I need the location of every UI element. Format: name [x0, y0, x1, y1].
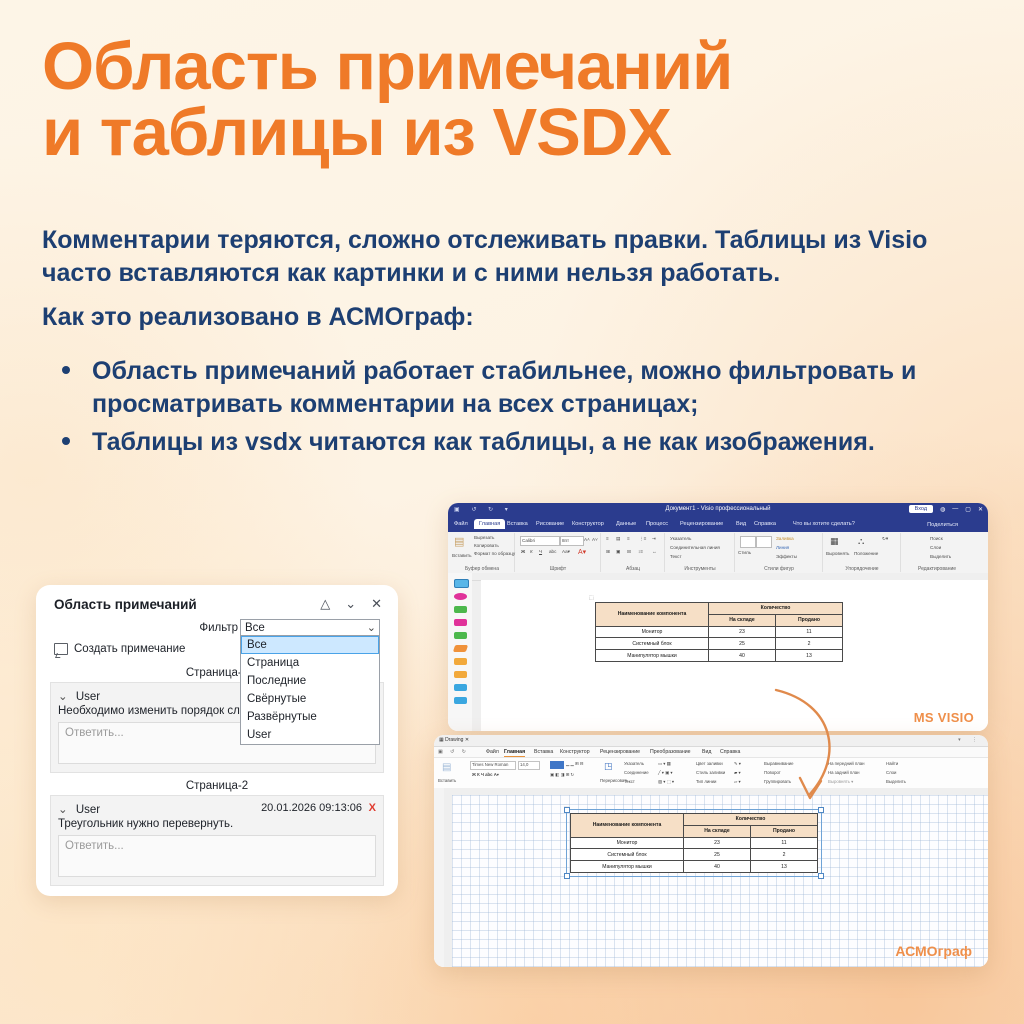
cell-sold: 2	[776, 638, 843, 650]
comment-text: Треугольник нужно перевернуть.	[58, 818, 376, 830]
connect-tool-button[interactable]: Соединение	[624, 770, 649, 775]
th-sold: Продано	[776, 614, 843, 626]
text-tool-button[interactable]: Текст	[670, 554, 682, 559]
close-icon[interactable]: ✕	[978, 506, 983, 513]
close-icon[interactable]: ✕	[371, 597, 382, 610]
intro-paragraph: Комментарии теряются, сложно отслеживать…	[42, 224, 972, 290]
cell-sold: 11	[776, 626, 843, 638]
select-button[interactable]: Выделить	[886, 779, 906, 784]
valign-bottom-icon[interactable]: ⊟	[627, 549, 631, 555]
comments-panel-title: Область примечаний	[54, 597, 197, 612]
font-name-value: Times New Roman	[472, 762, 508, 767]
shape-misc-icons-c[interactable]: ▨ ▾ ⬚ ▾	[658, 779, 674, 785]
paste-icon[interactable]: ▤	[442, 762, 451, 773]
ribbon-group-label: Инструменты	[666, 566, 734, 572]
maximize-icon[interactable]: ▢	[965, 506, 971, 513]
cell-sold: 13	[776, 650, 843, 662]
comment-author: User	[76, 691, 100, 703]
filter-option-user[interactable]: User	[241, 726, 379, 744]
acmograf-ribbon: ▤ Вставить Times New Roman 14,0 Ж К Ч ab…	[434, 758, 988, 791]
tab-insert[interactable]: Вставка	[507, 521, 528, 527]
th-quantity: Количество	[709, 603, 843, 615]
tab-file[interactable]: Файл	[454, 521, 468, 527]
intro-subhead: Как это реализовано в АСМОграф:	[42, 303, 972, 332]
document-tab-label: Drawing	[445, 737, 463, 743]
comments-window-controls: △ ⌄ ✕	[320, 597, 382, 610]
chevron-down-icon[interactable]: ⌄	[58, 691, 68, 703]
acmograf-component-table[interactable]: ⬚ Наименование компонента Количество На …	[570, 813, 818, 873]
pointer-tool-button[interactable]: Указатель	[670, 536, 691, 541]
table-row: Манипулятор мышки 40 13	[596, 650, 843, 662]
line-style-icon[interactable]: ▁ ▁ ⊞ ⊟	[566, 761, 583, 767]
bullet-dot-icon	[62, 437, 70, 445]
tab-help[interactable]: Справка	[720, 749, 740, 755]
list-item: Область примечаний работает стабильнее, …	[46, 355, 996, 421]
stencil-shape[interactable]	[454, 619, 467, 626]
selection-handle[interactable]	[818, 873, 824, 879]
cell-in-stock: 40	[709, 650, 776, 662]
bullet-dot-icon	[62, 366, 70, 374]
acmograf-workspace: ⬚ Наименование компонента Количество На …	[434, 788, 988, 967]
shrink-font-icon[interactable]: A˅	[592, 537, 598, 542]
tab-home[interactable]: Главная	[504, 749, 525, 757]
comments-panel: Область примечаний △ ⌄ ✕ Фильтр Все ⌄ Вс…	[50, 595, 384, 883]
tab-file[interactable]: Файл	[486, 749, 499, 755]
minimize-icon[interactable]: —	[952, 506, 958, 512]
feature-list: Область примечаний работает стабильнее, …	[46, 355, 996, 464]
filter-select[interactable]: Все ⌄	[240, 619, 380, 636]
select-button[interactable]: Выделить	[930, 554, 951, 559]
ribbon-group-shape-styles: Стиль Заливка Линия Эффекты Стили фигур	[736, 533, 823, 572]
th-component-name: Наименование компонента	[596, 603, 709, 627]
visio-title-bar: ▣ ↺ ↻ ▾ Документ1 - Visio профессиональн…	[448, 503, 988, 519]
tab-insert[interactable]: Вставка	[534, 749, 553, 755]
visio-ribbon-tabs: Файл Главная Вставка Рисование Конструкт…	[448, 519, 988, 532]
transform-arrow-icon	[760, 686, 880, 816]
indent-icon[interactable]: ⇥	[652, 536, 656, 542]
stencil-shape[interactable]	[453, 645, 468, 652]
filter-option-poslednie[interactable]: Последние	[241, 672, 379, 690]
stencil-shape[interactable]	[454, 697, 467, 704]
create-note-label: Создать примечание	[74, 643, 185, 655]
page-separator-2: Страница-2	[50, 780, 384, 792]
cell-name: Монитор	[596, 626, 709, 638]
create-note-button[interactable]: Создать примечание	[54, 643, 185, 655]
cell-in-stock: 25	[709, 638, 776, 650]
chevron-down-icon[interactable]: ⌄	[58, 804, 68, 816]
filter-option-vse[interactable]: Все	[241, 636, 379, 654]
ribbon-group-font: Calibri 8пт A˄ A˅ Ж К Ч abc Аа▾ A▾ Шрифт	[516, 533, 601, 572]
strikethrough-icon[interactable]: abc	[549, 549, 556, 554]
valign-top-icon[interactable]: ⊞	[606, 549, 610, 555]
tab-draw[interactable]: Рисование	[536, 521, 564, 527]
effects-button[interactable]: Эффекты	[776, 554, 797, 559]
text-tool-button[interactable]: Текст	[624, 779, 635, 784]
stencil-shape[interactable]	[454, 593, 467, 600]
paste-icon[interactable]: ▤	[454, 535, 464, 548]
ribbon-group-label: Упорядочение	[824, 566, 900, 572]
table-row: Монитор 23 11	[596, 626, 843, 638]
change-case-icon[interactable]: Аа▾	[562, 549, 570, 555]
ribbon-group-clipboard: ▤ Вставить Вырезать Копировать Формат по…	[450, 533, 515, 572]
align-center-icon[interactable]: ▤	[616, 536, 620, 542]
stencil-shape[interactable]	[454, 684, 467, 691]
stencil-shape[interactable]	[454, 579, 469, 588]
pen-icon[interactable]: ✎ ▾	[734, 761, 741, 767]
cell-name: Системный блок	[596, 638, 709, 650]
quick-access-icons[interactable]: ▣ ↺ ↻	[438, 749, 469, 755]
comment-date: 20.01.2026 09:13:06	[261, 802, 362, 814]
comments-panel-card: Область примечаний △ ⌄ ✕ Фильтр Все ⌄ Вс…	[36, 585, 398, 896]
pointer-tool-button[interactable]: Указатель	[624, 761, 644, 766]
acmograf-ribbon-tabs: ▣ ↺ ↻ Файл Главная Вставка Конструктор Р…	[434, 747, 988, 758]
tab-design[interactable]: Конструктор	[572, 521, 604, 527]
table-row: Наименование компонента Количество	[596, 603, 843, 615]
paste-label[interactable]: Вставить	[438, 778, 456, 783]
shape-misc-icons-a[interactable]: ▭ ▾ ▦	[658, 761, 671, 767]
tab-help[interactable]: Справка	[754, 521, 776, 527]
font-size-value: 8пт	[562, 538, 569, 543]
acmograf-watermark: АСМОграф	[895, 943, 972, 959]
comment-author: User	[76, 804, 100, 816]
filter-option-razvernutye[interactable]: Развёрнутые	[241, 708, 379, 726]
page-title: Область примечаний и таблицы из VSDX	[42, 34, 982, 165]
visio-component-table[interactable]: ⬚ Наименование компонента Количество На …	[595, 602, 843, 662]
line-spacing-icon[interactable]: ↕≡	[638, 549, 643, 554]
find-button[interactable]: Найти	[886, 761, 898, 766]
filter-dropdown-list[interactable]: Все Страница Последние Свёрнутые Развёрн…	[240, 636, 380, 745]
window-controls[interactable]: ▾ ⋮	[958, 737, 982, 743]
bold-icon[interactable]: Ж К Ч abc А▾	[472, 772, 499, 778]
visio-titlebar-right: Вход ◍ — ▢ ✕	[909, 505, 983, 513]
document-tab[interactable]: ▦ Drawing ✕	[439, 737, 469, 743]
copy-button[interactable]: Копировать	[474, 543, 499, 548]
share-button[interactable]: Поделиться	[927, 522, 958, 528]
comment-item[interactable]: ⌄ User 20.01.2026 09:13:06 X Треугольник…	[50, 795, 384, 886]
tab-view[interactable]: Вид	[736, 521, 746, 527]
brush-icon[interactable]: ▰ ▾	[734, 770, 741, 776]
filter-option-svernutye[interactable]: Свёрнутые	[241, 690, 379, 708]
acmograf-window: ▦ Drawing ✕ ▾ ⋮ ▣ ↺ ↻ Файл Главная Встав…	[434, 735, 988, 967]
stencil-shape[interactable]	[454, 671, 467, 678]
italic-icon[interactable]: К	[530, 549, 533, 554]
shape-style-preview-2[interactable]	[756, 536, 772, 548]
ribbon-group-paragraph: ≡ ▤ ≡ ⋮≡ ⇥ ⊞ ▣ ⊟ ↕≡ ↔ Абзац	[602, 533, 665, 572]
visio-workspace: ⬚ Наименование компонента Количество На …	[448, 573, 988, 731]
tab-home[interactable]: Главная	[474, 519, 505, 529]
ribbon-group-tools: Указатель Соединительная линия Текст Инс…	[666, 533, 735, 572]
fill-color-swatch[interactable]	[550, 761, 564, 769]
valign-middle-icon[interactable]: ▣	[616, 549, 620, 555]
cut-button[interactable]: Вырезать	[474, 535, 494, 540]
comment-header: ⌄ User 20.01.2026 09:13:06 X	[58, 802, 376, 817]
ribbon-group-label: Шрифт	[516, 566, 600, 572]
eraser-icon[interactable]: ▱ ▾	[734, 779, 741, 785]
chevron-down-icon[interactable]: ⌄	[345, 597, 356, 610]
rotate-icon[interactable]: ↻▾	[882, 536, 888, 542]
font-color-icon[interactable]: A▾	[578, 548, 586, 556]
headline-line-2: и таблицы из VSDX	[42, 100, 982, 166]
headline-line-1: Область примечаний	[42, 29, 732, 104]
position-button[interactable]: Положение	[854, 551, 878, 556]
tab-process[interactable]: Процесс	[646, 521, 668, 527]
tell-me-box[interactable]: Что вы хотите сделать?	[793, 521, 855, 527]
fill-color-button[interactable]: Цвет заливки	[696, 761, 723, 766]
line-button[interactable]: Линия	[776, 545, 789, 550]
stencil-shape[interactable]	[454, 658, 467, 665]
chevron-down-icon: ⌄	[367, 621, 376, 634]
filter-selected-value: Все	[245, 622, 265, 634]
collapse-up-icon[interactable]: △	[320, 597, 330, 610]
tab-data[interactable]: Данные	[616, 521, 636, 527]
stencil-shape[interactable]	[454, 606, 467, 613]
fill-style-button[interactable]: Стиль заливки	[696, 770, 725, 775]
selection-handle[interactable]	[564, 807, 570, 813]
format-painter-button[interactable]: Формат по образцу	[474, 551, 515, 556]
filter-label: Фильтр	[199, 622, 238, 634]
bullets-icon[interactable]: ⋮≡	[639, 536, 646, 542]
tab-review[interactable]: Рецензирование	[600, 749, 640, 755]
ribbon-group-editing: Поиск Слои Выделить Редактирование	[902, 533, 972, 572]
align-button[interactable]: Выровнять	[826, 551, 849, 556]
find-button[interactable]: Поиск	[930, 536, 943, 541]
table-anchor-icon: ⬚	[589, 595, 594, 601]
component-table[interactable]: Наименование компонента Количество На ск…	[595, 602, 843, 662]
stencil-shape[interactable]	[454, 632, 467, 639]
underline-icon[interactable]: Ч	[539, 549, 542, 554]
paste-label[interactable]: Вставить	[452, 553, 471, 558]
filter-option-stranica[interactable]: Страница	[241, 654, 379, 672]
tab-view[interactable]: Вид	[702, 749, 711, 755]
ms-visio-window: ▣ ↺ ↻ ▾ Документ1 - Visio профессиональн…	[448, 503, 988, 731]
list-item-label: Область примечаний работает стабильнее, …	[92, 357, 916, 418]
ribbon-group-arrange: ▦ ⛬ ↻▾ Выровнять Положение Упорядочение	[824, 533, 901, 572]
list-item-label: Таблицы из vsdx читаются как таблицы, а …	[92, 428, 875, 456]
tab-review[interactable]: Рецензирование	[680, 521, 723, 527]
ribbon-group-label: Абзац	[602, 566, 664, 572]
text-direction-icon[interactable]: ↔	[652, 549, 657, 554]
filter-row: Фильтр Все ⌄ Все Страница Последние Свёр…	[50, 619, 384, 639]
align-left-icon[interactable]: ≡	[606, 536, 609, 541]
ms-visio-watermark: MS VISIO	[914, 710, 974, 725]
fill-button[interactable]: Заливка	[776, 536, 794, 541]
tab-transform[interactable]: Преобразование	[650, 749, 691, 755]
shape-styles-label: Стиль	[738, 550, 751, 555]
redraw-icon[interactable]: ◳	[604, 761, 613, 772]
visio-canvas[interactable]: ⬚ Наименование компонента Количество На …	[481, 580, 988, 731]
cell-name: Манипулятор мышки	[596, 650, 709, 662]
ribbon-group-label: Буфер обмена	[450, 566, 514, 572]
connector-tool-button[interactable]: Соединительная линия	[670, 545, 720, 550]
align-shapes-icon[interactable]: ▦	[830, 536, 839, 547]
visio-shapes-stencil[interactable]	[448, 573, 473, 731]
font-name-value: Calibri	[522, 538, 535, 543]
shape-style-preview-1[interactable]	[740, 536, 756, 548]
th-in-stock: На складе	[709, 614, 776, 626]
delete-comment-icon[interactable]: X	[369, 802, 376, 814]
quick-access-icons[interactable]: ▣ ↺ ↻ ▾	[454, 506, 513, 513]
line-type-button[interactable]: Тип линии	[696, 779, 716, 784]
note-icon	[54, 643, 68, 655]
font-size-value: 14,0	[520, 762, 528, 767]
acmograf-document-tabbar: ▦ Drawing ✕ ▾ ⋮	[434, 735, 988, 747]
cell-in-stock: 23	[709, 626, 776, 638]
ribbon-group-label: Стили фигур	[736, 566, 822, 572]
position-shapes-icon[interactable]: ⛬	[858, 536, 864, 547]
tab-design[interactable]: Конструктор	[560, 749, 590, 755]
acmograf-canvas[interactable]: ⬚ Наименование компонента Количество На …	[452, 795, 988, 967]
reply-input[interactable]: Ответить...	[58, 835, 376, 877]
visio-document-title: Документ1 - Visio профессиональный	[666, 506, 771, 512]
ribbon-group-label: Редактирование	[902, 566, 972, 572]
shape-row-icons[interactable]: ▣ ◧ ◨ ⊞ ↻	[550, 772, 574, 778]
sign-in-button[interactable]: Вход	[909, 505, 933, 513]
selection-box	[566, 809, 822, 877]
align-right-icon[interactable]: ≡	[627, 536, 630, 541]
table-row: Системный блок 25 2	[596, 638, 843, 650]
layers-button[interactable]: Слои	[886, 770, 896, 775]
list-item: Таблицы из vsdx читаются как таблицы, а …	[46, 426, 996, 459]
visio-ribbon: ▤ Вставить Вырезать Копировать Формат по…	[448, 532, 988, 574]
layers-button[interactable]: Слои	[930, 545, 941, 550]
account-icon[interactable]: ◍	[940, 506, 945, 513]
selection-handle[interactable]	[564, 873, 570, 879]
grow-font-icon[interactable]: A˄	[584, 537, 590, 542]
bold-icon[interactable]: Ж	[521, 549, 525, 554]
comments-panel-header: Область примечаний △ ⌄ ✕	[50, 595, 384, 619]
shape-misc-icons-b[interactable]: ╱ ▾ ▣ ▾	[658, 770, 673, 776]
